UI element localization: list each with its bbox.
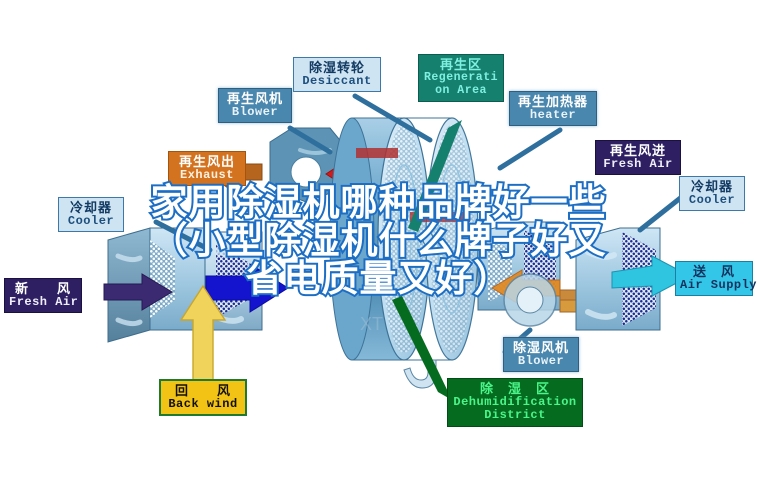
diagram-canvas: XT bbox=[0, 0, 757, 488]
label-regeneration-heater[interactable]: 再生加热器 heater bbox=[509, 91, 597, 126]
label-cooler-left-cn: 冷却器 bbox=[63, 201, 119, 215]
label-regen-area-cn: 再生区 bbox=[423, 58, 499, 72]
label-air-supply[interactable]: 送 风 Air Supply bbox=[675, 261, 753, 296]
label-dehumidification-district[interactable]: 除 湿 区 Dehumidification District bbox=[447, 378, 583, 427]
label-cooler-left[interactable]: 冷却器 Cooler bbox=[58, 197, 124, 232]
label-regeneration-exhaust[interactable]: 再生风出 Exhaust bbox=[168, 151, 246, 186]
label-dehumidification-blower[interactable]: 除湿风机 Blower bbox=[503, 337, 579, 372]
label-dehum-blower-en: Blower bbox=[508, 355, 574, 368]
label-regeneration-area[interactable]: 再生区 Regenerati on Area bbox=[418, 54, 504, 102]
label-cooler-left-en: Cooler bbox=[63, 215, 119, 228]
desiccant-rotor bbox=[330, 118, 478, 388]
label-air-supply-cn: 送 风 bbox=[680, 265, 748, 279]
label-desiccant-en: Desiccant bbox=[298, 75, 376, 88]
label-regen-exhaust-cn: 再生风出 bbox=[173, 155, 241, 169]
label-regen-air-in-en: Fresh Air bbox=[600, 158, 676, 171]
label-dehum-blower-cn: 除湿风机 bbox=[508, 341, 574, 355]
label-regen-heater-en: heater bbox=[514, 109, 592, 122]
label-back-wind-en: Back wind bbox=[165, 398, 241, 411]
label-desiccant[interactable]: 除湿转轮 Desiccant bbox=[293, 57, 381, 92]
label-fresh-air[interactable]: 新 风 Fresh Air bbox=[4, 278, 82, 313]
label-regen-exhaust-en: Exhaust bbox=[173, 169, 241, 182]
label-fresh-air-en: Fresh Air bbox=[9, 296, 77, 309]
label-desiccant-cn: 除湿转轮 bbox=[298, 61, 376, 75]
label-regen-air-in-cn: 再生风进 bbox=[600, 144, 676, 158]
watermark-text: XT bbox=[360, 314, 383, 334]
label-cooler-right[interactable]: 冷却器 Cooler bbox=[679, 176, 745, 211]
label-cooler-right-en: Cooler bbox=[684, 194, 740, 207]
label-air-supply-en: Air Supply bbox=[680, 279, 748, 292]
label-cooler-right-cn: 冷却器 bbox=[684, 180, 740, 194]
label-regeneration-air-in[interactable]: 再生风进 Fresh Air bbox=[595, 140, 681, 175]
label-regen-blower-en: Blower bbox=[223, 106, 287, 119]
label-back-wind-cn: 回 风 bbox=[165, 384, 241, 398]
regen-zone-marker bbox=[356, 148, 398, 158]
label-regen-heater-cn: 再生加热器 bbox=[514, 95, 592, 109]
label-regen-blower-cn: 再生风机 bbox=[223, 92, 287, 106]
label-regen-area-en: Regenerati on Area bbox=[423, 72, 499, 98]
label-fresh-air-cn: 新 风 bbox=[9, 282, 77, 296]
dehumidification-blower bbox=[504, 274, 556, 326]
label-back-wind[interactable]: 回 风 Back wind bbox=[159, 379, 247, 416]
label-regeneration-blower[interactable]: 再生风机 Blower bbox=[218, 88, 292, 123]
label-dehum-district-en: Dehumidification District bbox=[452, 396, 578, 423]
label-dehum-district-cn: 除 湿 区 bbox=[452, 382, 578, 396]
